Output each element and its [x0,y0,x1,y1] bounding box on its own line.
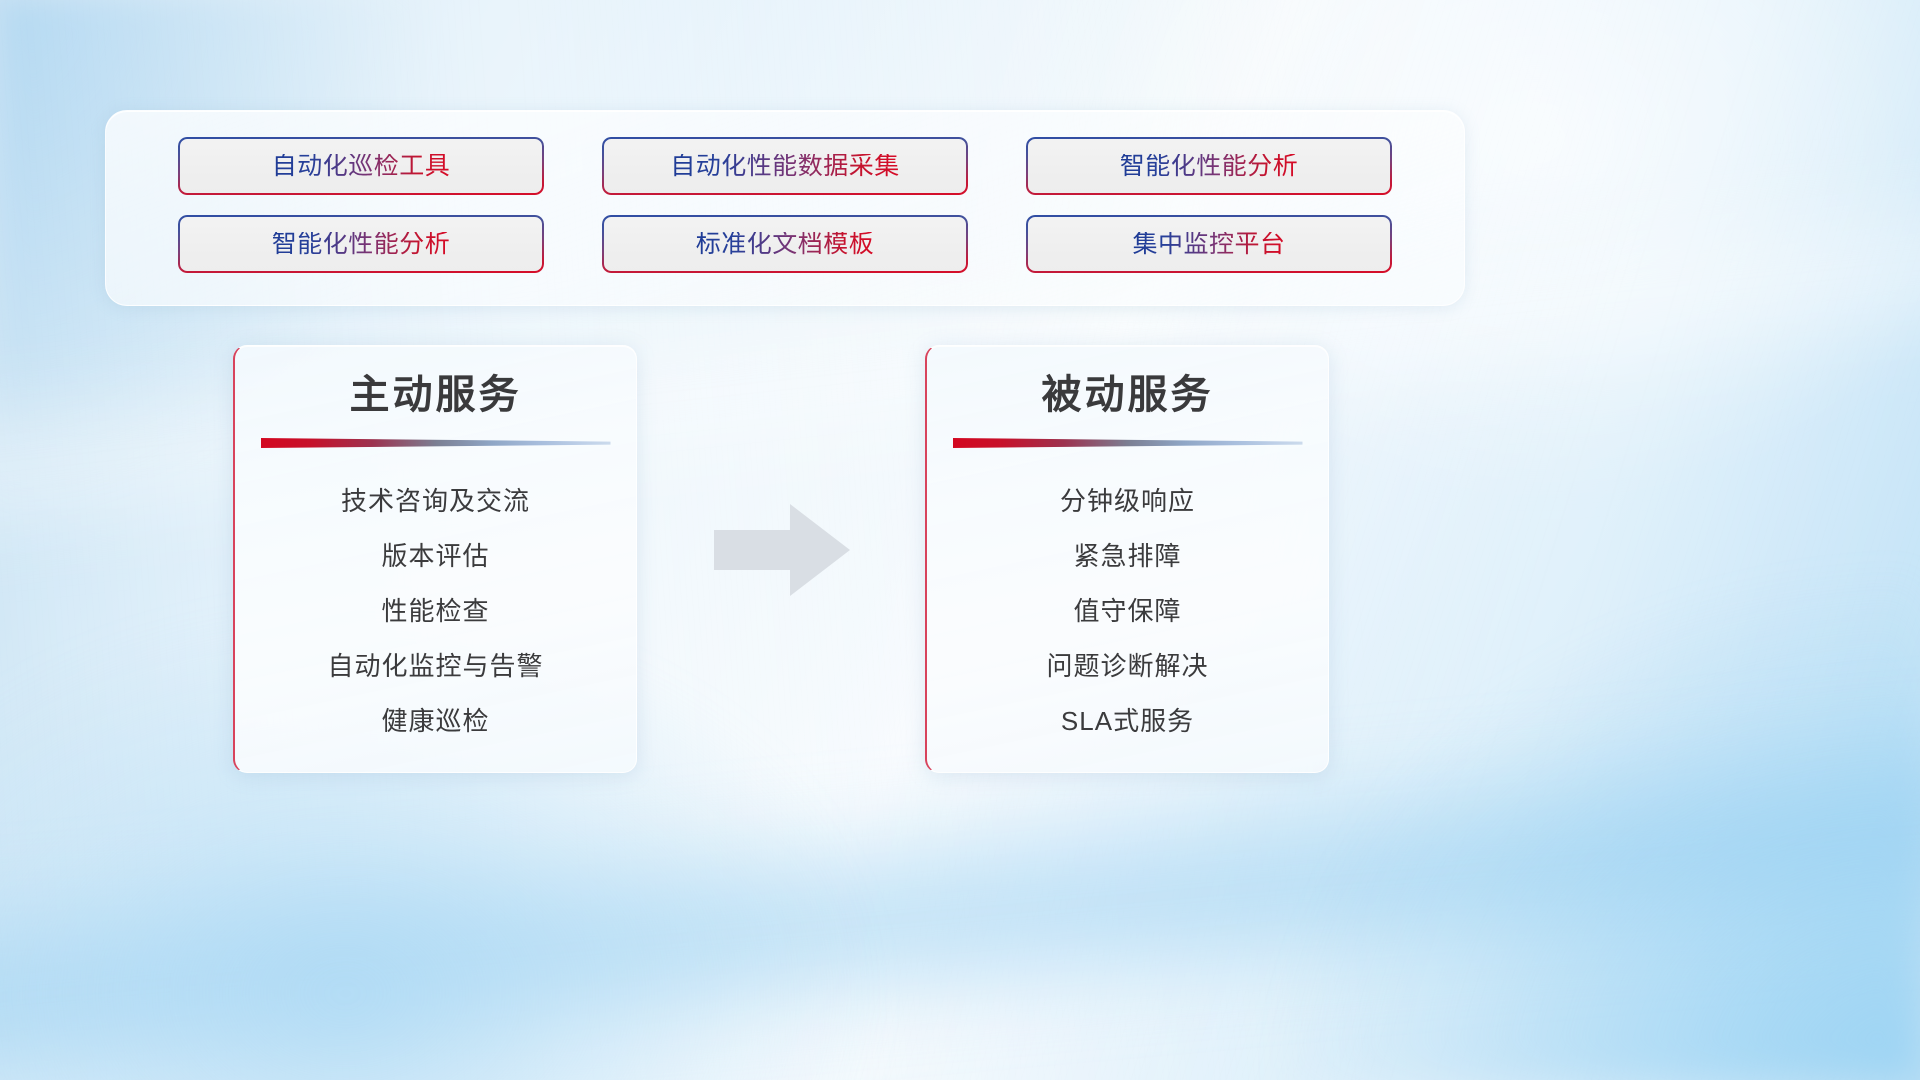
card-item-list: 技术咨询及交流 版本评估 性能检查 自动化监控与告警 健康巡检 [235,474,636,749]
capability-tools-panel: 自动化巡检工具 自动化性能数据采集 智能化性能分析 智能化性能分析 标准化文档模… [105,110,1465,306]
list-item: 值守保障 [927,584,1328,639]
pill-intelligent-perf-analysis[interactable]: 智能化性能分析 [1026,137,1392,195]
pill-auto-inspection-tool[interactable]: 自动化巡检工具 [178,137,544,195]
list-item: 自动化监控与告警 [235,639,636,694]
divider-gradient-bar [953,438,1303,448]
card-title-divider [261,438,611,448]
card-title-divider [953,438,1303,448]
pill-label: 智能化性能分析 [272,232,451,257]
pill-label: 集中监控平台 [1132,232,1285,257]
card-proactive-service[interactable]: 主动服务 技术咨询及交流 版本评估 性能检查 自动化监控与告警 健康巡检 [233,345,637,773]
pill-intelligent-perf-analysis-2[interactable]: 智能化性能分析 [178,215,544,273]
list-item: 技术咨询及交流 [235,474,636,529]
pill-central-monitor-platform[interactable]: 集中监控平台 [1026,215,1392,273]
list-item: 问题诊断解决 [927,639,1328,694]
list-item: 性能检查 [235,584,636,639]
list-item: SLA式服务 [927,694,1328,749]
flow-arrow-right-icon [712,500,852,600]
list-item: 紧急排障 [927,529,1328,584]
pill-label: 自动化性能数据采集 [670,154,900,179]
service-flow-row: 主动服务 技术咨询及交流 版本评估 性能检查 自动化监控与告警 健康巡检 被动服… [0,345,1920,775]
divider-gradient-bar [261,438,611,448]
card-title: 被动服务 [927,372,1328,418]
card-title: 主动服务 [235,372,636,418]
pill-label: 自动化巡检工具 [272,154,451,179]
pill-standard-doc-template[interactable]: 标准化文档模板 [602,215,968,273]
list-item: 版本评估 [235,529,636,584]
pill-label: 智能化性能分析 [1120,154,1299,179]
list-item: 分钟级响应 [927,474,1328,529]
card-item-list: 分钟级响应 紧急排障 值守保障 问题诊断解决 SLA式服务 [927,474,1328,749]
card-reactive-service[interactable]: 被动服务 分钟级响应 紧急排障 值守保障 问题诊断解决 SLA式服务 [925,345,1329,773]
list-item: 健康巡检 [235,694,636,749]
pill-label: 标准化文档模板 [696,232,875,257]
pill-auto-perf-data-collect[interactable]: 自动化性能数据采集 [602,137,968,195]
